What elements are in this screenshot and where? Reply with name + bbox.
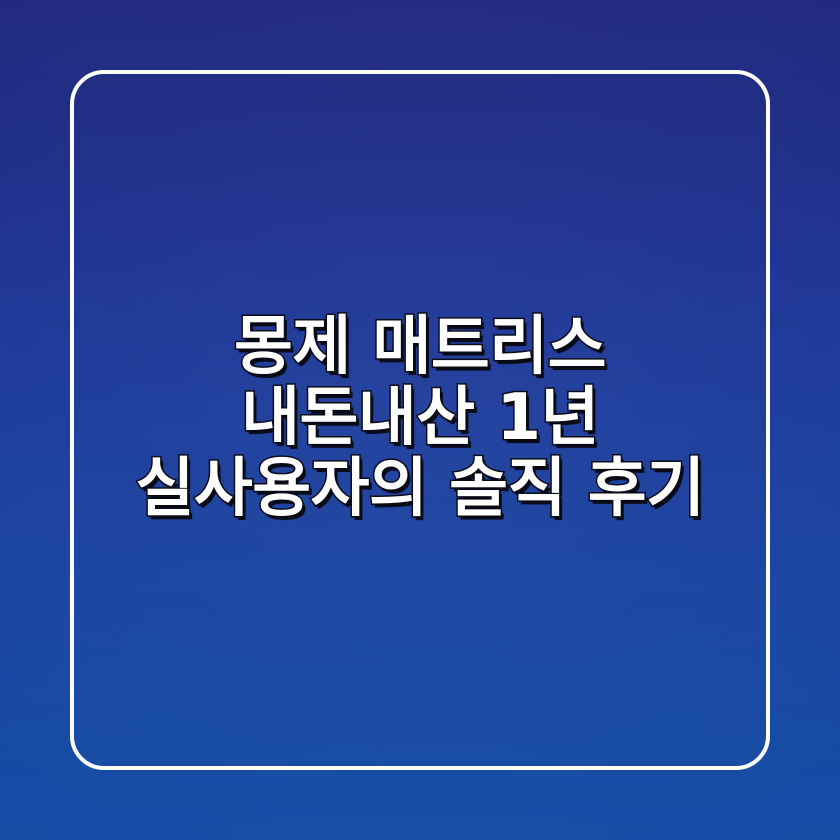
headline-line-1: 몽제 매트리스	[48, 312, 792, 383]
headline-line-2: 내돈내산 1년	[48, 383, 792, 454]
thumbnail-canvas: 몽제 매트리스 내돈내산 1년 실사용자의 솔직 후기	[0, 0, 840, 840]
headline-line-3: 실사용자의 솔직 후기	[48, 454, 792, 525]
headline-block: 몽제 매트리스 내돈내산 1년 실사용자의 솔직 후기	[0, 312, 840, 525]
